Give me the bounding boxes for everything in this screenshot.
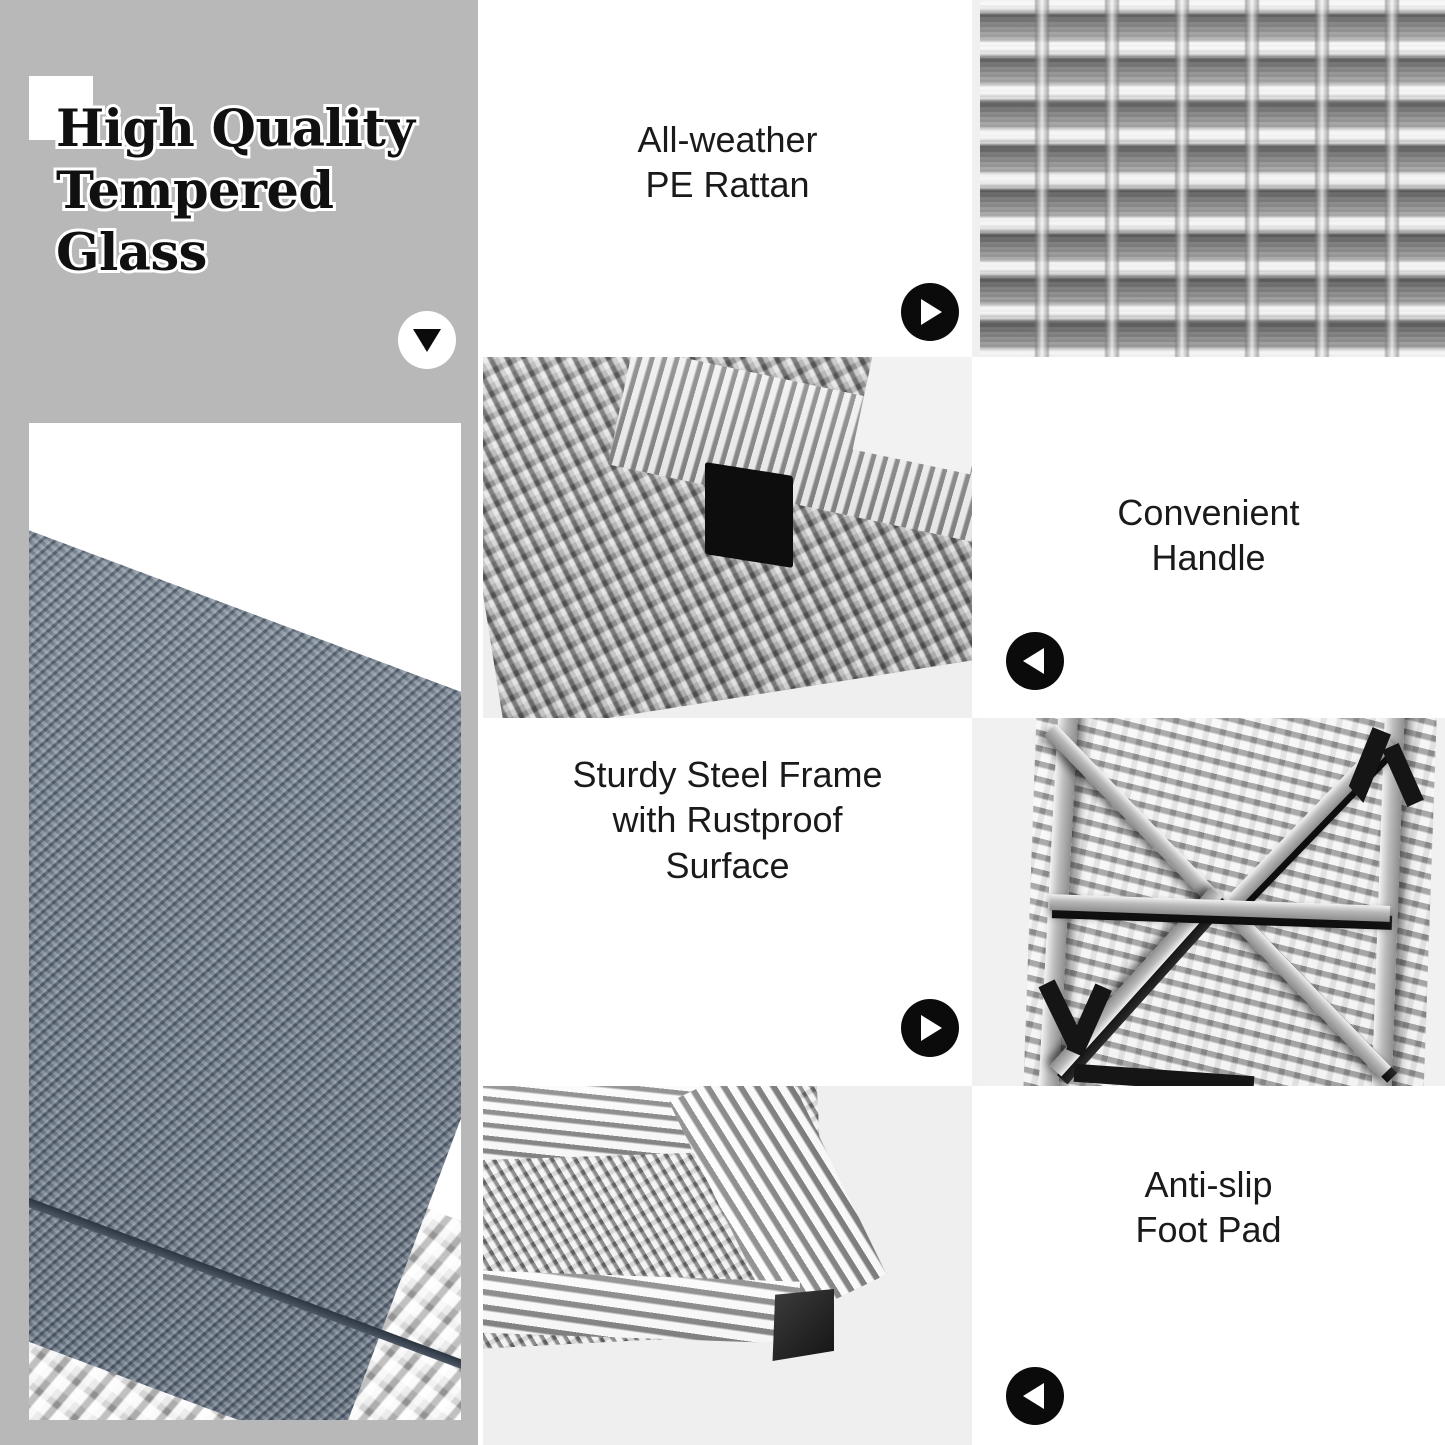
pe-rattan-weave-photo bbox=[980, 0, 1445, 357]
steel-frame-caption-panel: Sturdy Steel Frame with Rustproof Surfac… bbox=[483, 718, 972, 1086]
triangle-right-icon[interactable] bbox=[901, 999, 959, 1057]
handle-caption-line-1: Convenient bbox=[972, 490, 1445, 535]
handle-caption-line-2: Handle bbox=[972, 535, 1445, 580]
steel-frame-caption: Sturdy Steel Frame with Rustproof Surfac… bbox=[483, 752, 972, 888]
title-line-2: Tempered bbox=[56, 160, 456, 222]
convenient-handle-photo bbox=[483, 357, 972, 718]
black-foot-pad bbox=[770, 1289, 834, 1361]
frame-caption-line-3: Surface bbox=[483, 843, 972, 888]
rattan-caption: All-weather PE Rattan bbox=[483, 117, 972, 208]
frame-caption-line-2: with Rustproof bbox=[483, 797, 972, 842]
headline-panel: High Quality Tempered Glass bbox=[0, 0, 478, 1445]
handle-caption: Convenient Handle bbox=[972, 490, 1445, 581]
page-title: High Quality Tempered Glass bbox=[56, 98, 456, 285]
triangle-left-icon[interactable] bbox=[1006, 632, 1064, 690]
footpad-caption-line-1: Anti-slip bbox=[972, 1162, 1445, 1207]
footpad-caption-line-2: Foot Pad bbox=[972, 1207, 1445, 1252]
rattan-caption-line-1: All-weather bbox=[483, 117, 972, 162]
handle-cutout bbox=[705, 462, 793, 568]
steel-frame-photo bbox=[978, 718, 1445, 1086]
tempered-glass-photo bbox=[29, 423, 461, 1420]
handle-caption-panel: Convenient Handle bbox=[972, 357, 1445, 718]
title-line-3: Glass bbox=[56, 222, 456, 284]
triangle-down-icon[interactable] bbox=[398, 311, 456, 369]
rattan-caption-panel: All-weather PE Rattan bbox=[483, 0, 972, 357]
rattan-rail-bottom bbox=[483, 1270, 800, 1343]
frame-caption-line-1: Sturdy Steel Frame bbox=[483, 752, 972, 797]
anti-slip-foot-pad-photo bbox=[483, 1086, 972, 1445]
title-line-1: High Quality bbox=[56, 98, 456, 160]
triangle-right-icon[interactable] bbox=[901, 283, 959, 341]
rattan-caption-line-2: PE Rattan bbox=[483, 162, 972, 207]
foot-pad-caption-panel: Anti-slip Foot Pad bbox=[972, 1086, 1445, 1445]
infographic-canvas: High Quality Tempered Glass All-weather … bbox=[0, 0, 1445, 1445]
triangle-left-icon[interactable] bbox=[1006, 1367, 1064, 1425]
foot-pad-caption: Anti-slip Foot Pad bbox=[972, 1162, 1445, 1253]
